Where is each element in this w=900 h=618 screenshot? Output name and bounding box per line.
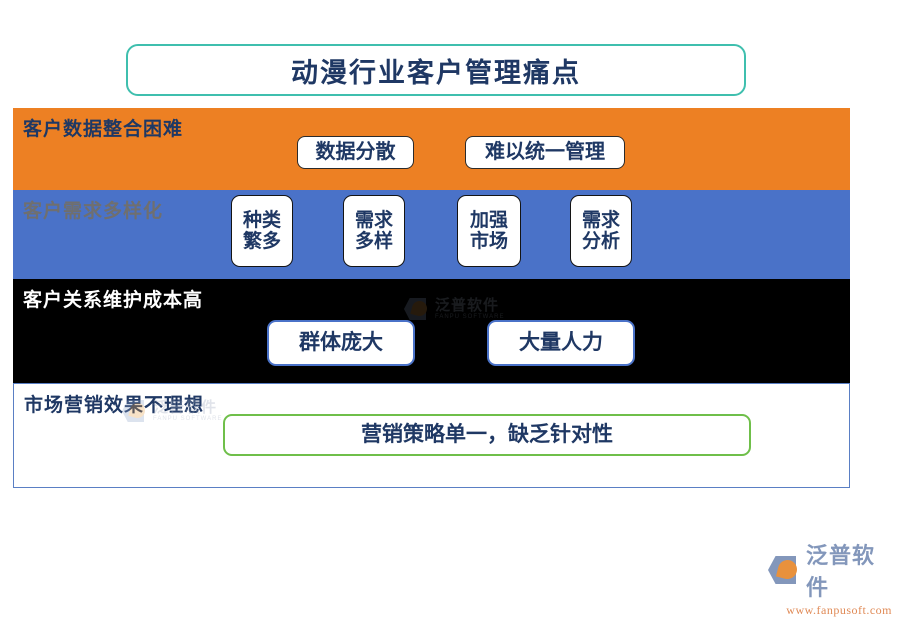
brand-url: www.fanpusoft.com [768, 603, 892, 618]
fanpu-logo-icon [768, 556, 800, 584]
pill-hard-to-unify-management[interactable]: 难以统一管理 [465, 136, 625, 169]
brand-logo: 泛普软件 www.fanpusoft.com [768, 538, 892, 586]
band-label-customer-data-integration: 客户数据整合困难 [23, 114, 183, 141]
band-relationship-maintenance-cost: 客户关系维护成本高 [13, 279, 850, 383]
pill-many-categories-line2: 繁多 [243, 231, 281, 252]
pill-many-categories-line1: 种类 [243, 210, 281, 231]
pill-demand-analysis-line1: 需求 [582, 210, 620, 231]
pill-varied-demand[interactable]: 需求 多样 [343, 195, 405, 267]
slide-title-box: 动漫行业客户管理痛点 [126, 44, 746, 96]
pill-many-categories[interactable]: 种类 繁多 [231, 195, 293, 267]
pill-large-manpower[interactable]: 大量人力 [487, 320, 635, 366]
band-diverse-customer-needs: 客户需求多样化 [13, 190, 850, 279]
brand-name: 泛普软件 [806, 538, 892, 602]
pill-strengthen-market-line2: 市场 [470, 231, 508, 252]
pill-varied-demand-line1: 需求 [355, 210, 393, 231]
pill-demand-analysis-line2: 分析 [582, 231, 620, 252]
pill-varied-demand-line2: 多样 [355, 231, 393, 252]
pill-strengthen-market-line1: 加强 [470, 210, 508, 231]
pill-strengthen-market[interactable]: 加强 市场 [457, 195, 521, 267]
pill-large-customer-base[interactable]: 群体庞大 [267, 320, 415, 366]
band-label-relationship-maintenance-cost: 客户关系维护成本高 [23, 285, 203, 312]
pill-marketing-strategy-single[interactable]: 营销策略单一，缺乏针对性 [223, 414, 751, 456]
band-label-marketing-ineffective: 市场营销效果不理想 [24, 390, 204, 417]
band-customer-data-integration: 客户数据整合困难 [13, 108, 850, 190]
pill-data-scattered[interactable]: 数据分散 [297, 136, 414, 169]
band-label-diverse-customer-needs: 客户需求多样化 [23, 196, 163, 223]
page-title: 动漫行业客户管理痛点 [291, 51, 581, 90]
pill-demand-analysis[interactable]: 需求 分析 [570, 195, 632, 267]
slide-canvas: 动漫行业客户管理痛点 客户数据整合困难 数据分散 难以统一管理 客户需求多样化 … [0, 0, 900, 600]
